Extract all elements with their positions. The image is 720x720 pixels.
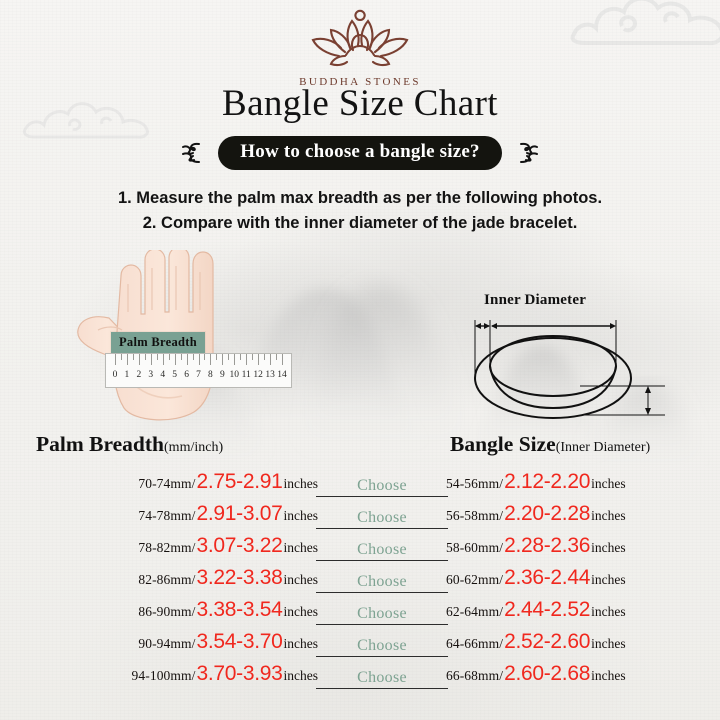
size-inch-value: 3.70-3.93 (196, 662, 282, 686)
table-row: 94-100mm/3.70-3.93inches (18, 662, 318, 694)
ruler-number: 12 (253, 370, 263, 380)
size-mm-value: 66-68mm/ (446, 668, 503, 684)
ornament-flourish-right-icon (511, 138, 541, 168)
ruler-number: 0 (113, 370, 118, 380)
size-inch-value: 2.28-2.36 (504, 534, 590, 558)
ruler-numbers: 01234567891011121314 (106, 367, 291, 387)
choose-label[interactable]: Choose (357, 605, 407, 623)
bangle-ring-diagram-icon (460, 314, 670, 422)
ruler-tick (216, 354, 217, 360)
ruler-tick (252, 354, 253, 360)
ruler-number: 13 (265, 370, 275, 380)
table-row: 74-78mm/2.91-3.07inches (18, 502, 318, 534)
size-mm-value: 56-58mm/ (446, 508, 503, 524)
how-to-choose-banner: How to choose a bangle size? (218, 136, 501, 170)
size-unit-label: inches (284, 604, 319, 620)
ruler-tick (228, 354, 229, 360)
bangle-size-heading-sub: (Inner Diameter) (556, 440, 650, 455)
choose-label[interactable]: Choose (357, 509, 407, 527)
size-mm-value: 70-74mm/ (138, 476, 195, 492)
choose-row[interactable]: Choose (316, 598, 448, 630)
ruler-tick (258, 354, 259, 365)
size-unit-label: inches (284, 668, 319, 684)
palm-breadth-heading-main: Palm Breadth (36, 432, 164, 456)
ruler-tick (139, 354, 140, 365)
size-unit-label: inches (591, 508, 626, 524)
size-unit-label: inches (284, 476, 319, 492)
table-row: 58-60mm/2.28-2.36inches (446, 534, 714, 566)
choose-row[interactable]: Choose (316, 630, 448, 662)
choose-connector-line (316, 496, 448, 497)
size-inch-value: 2.12-2.20 (504, 470, 590, 494)
table-row: 60-62mm/2.36-2.44inches (446, 566, 714, 598)
size-inch-value: 2.44-2.52 (504, 598, 590, 622)
size-inch-value: 3.54-3.70 (196, 630, 282, 654)
size-mm-value: 64-66mm/ (446, 636, 503, 652)
table-row: 86-90mm/3.38-3.54inches (18, 598, 318, 630)
bangle-diagram: Inner Diameter (460, 292, 670, 420)
ruler-tick (204, 354, 205, 360)
choose-connector-line (316, 656, 448, 657)
instruction-step-2: 2. Compare with the inner diameter of th… (0, 211, 720, 236)
ruler-tick (234, 354, 235, 365)
size-unit-label: inches (591, 604, 626, 620)
table-row: 82-86mm/3.22-3.38inches (18, 566, 318, 598)
choose-row[interactable]: Choose (316, 662, 448, 694)
ruler-tick (145, 354, 146, 360)
table-row: 54-56mm/2.12-2.20inches (446, 470, 714, 502)
choose-label[interactable]: Choose (357, 541, 407, 559)
ruler-tick (157, 354, 158, 360)
ruler-tick (240, 354, 241, 360)
size-unit-label: inches (591, 540, 626, 556)
size-unit-label: inches (284, 540, 319, 556)
palm-breadth-table: 70-74mm/2.75-2.91inches74-78mm/2.91-3.07… (18, 470, 318, 694)
size-unit-label: inches (284, 508, 319, 524)
ruler-icon: 01234567891011121314 (105, 353, 292, 388)
ruler-tick (199, 354, 200, 365)
size-mm-value: 90-94mm/ (138, 636, 195, 652)
size-unit-label: inches (591, 476, 626, 492)
size-inch-value: 2.52-2.60 (504, 630, 590, 654)
size-unit-label: inches (591, 668, 626, 684)
ruler-tick (222, 354, 223, 365)
size-mm-value: 74-78mm/ (138, 508, 195, 524)
inner-diameter-label: Inner Diameter (484, 292, 586, 309)
ruler-tick (210, 354, 211, 365)
size-unit-label: inches (591, 636, 626, 652)
lotus-meditation-icon (301, 8, 419, 70)
choose-connector-line (316, 592, 448, 593)
ruler-tick (115, 354, 116, 365)
size-mm-value: 62-64mm/ (446, 604, 503, 620)
ruler-tick (270, 354, 271, 365)
size-mm-value: 94-100mm/ (132, 668, 196, 684)
ruler-ticks (106, 354, 291, 367)
ruler-number: 3 (148, 370, 153, 380)
size-inch-value: 2.20-2.28 (504, 502, 590, 526)
size-inch-value: 3.22-3.38 (196, 566, 282, 590)
ruler-tick (151, 354, 152, 365)
bangle-size-heading-main: Bangle Size (450, 432, 556, 456)
ruler-number: 6 (184, 370, 189, 380)
ruler-number: 2 (136, 370, 141, 380)
table-row: 62-64mm/2.44-2.52inches (446, 598, 714, 630)
ruler-tick (133, 354, 134, 360)
ruler-tick (187, 354, 188, 365)
ruler-number: 7 (196, 370, 201, 380)
bangle-size-chart-page: BUDDHA STONES Bangle Size Chart How to c… (0, 0, 720, 720)
choose-row[interactable]: Choose (316, 566, 448, 598)
choose-row[interactable]: Choose (316, 470, 448, 502)
choose-connector-line (316, 624, 448, 625)
ruler-tick (163, 354, 164, 365)
instruction-step-1: 1. Measure the palm max breadth as per t… (0, 186, 720, 211)
ruler-tick (264, 354, 265, 360)
instruction-steps: 1. Measure the palm max breadth as per t… (0, 186, 720, 236)
ruler-tick (169, 354, 170, 360)
ruler-number: 11 (242, 370, 251, 380)
table-row: 90-94mm/3.54-3.70inches (18, 630, 318, 662)
ruler-number: 10 (230, 370, 240, 380)
ruler-number: 1 (125, 370, 130, 380)
size-inch-value: 2.91-3.07 (196, 502, 282, 526)
choose-label[interactable]: Choose (357, 637, 407, 655)
size-mm-value: 58-60mm/ (446, 540, 503, 556)
size-inch-value: 2.60-2.68 (504, 662, 590, 686)
bangle-size-heading: Bangle Size(Inner Diameter) (450, 432, 650, 457)
choose-connector-line (316, 688, 448, 689)
hand-measure-illustration: Palm Breadth 01234567891011121314 (62, 250, 312, 422)
choose-connector-line (316, 528, 448, 529)
ruler-number: 4 (160, 370, 165, 380)
size-mm-value: 86-90mm/ (138, 604, 195, 620)
palm-breadth-label: Palm Breadth (111, 332, 205, 354)
choose-connector-column: ChooseChooseChooseChooseChooseChooseChoo… (316, 470, 448, 694)
size-mm-value: 54-56mm/ (446, 476, 503, 492)
choose-row[interactable]: Choose (316, 502, 448, 534)
choose-label[interactable]: Choose (357, 669, 407, 687)
ruler-tick (276, 354, 277, 360)
palm-breadth-heading-sub: (mm/inch) (164, 440, 223, 455)
size-inch-value: 3.07-3.22 (196, 534, 282, 558)
size-inch-value: 2.75-2.91 (196, 470, 282, 494)
ruler-tick (181, 354, 182, 360)
size-inch-value: 2.36-2.44 (504, 566, 590, 590)
choose-label[interactable]: Choose (357, 573, 407, 591)
choose-label[interactable]: Choose (357, 477, 407, 495)
size-mm-value: 78-82mm/ (138, 540, 195, 556)
table-row: 70-74mm/2.75-2.91inches (18, 470, 318, 502)
ruler-tick (127, 354, 128, 365)
page-title: Bangle Size Chart (0, 82, 720, 125)
ruler-number: 8 (208, 370, 213, 380)
size-mm-value: 60-62mm/ (446, 572, 503, 588)
banner-row: How to choose a bangle size? (0, 136, 720, 170)
palm-breadth-heading: Palm Breadth(mm/inch) (36, 432, 223, 457)
size-unit-label: inches (284, 636, 319, 652)
ruler-tick (282, 354, 283, 365)
ornament-flourish-left-icon (179, 138, 209, 168)
ruler-tick (175, 354, 176, 365)
size-unit-label: inches (591, 572, 626, 588)
size-unit-label: inches (284, 572, 319, 588)
ruler-number: 9 (220, 370, 225, 380)
bangle-size-table: 54-56mm/2.12-2.20inches56-58mm/2.20-2.28… (446, 470, 714, 694)
brand-logo: BUDDHA STONES (0, 8, 720, 88)
choose-connector-line (316, 560, 448, 561)
size-mm-value: 82-86mm/ (138, 572, 195, 588)
table-row: 64-66mm/2.52-2.60inches (446, 630, 714, 662)
ruler-tick (193, 354, 194, 360)
ruler-tick (246, 354, 247, 365)
table-row: 78-82mm/3.07-3.22inches (18, 534, 318, 566)
table-row: 66-68mm/2.60-2.68inches (446, 662, 714, 694)
ruler-number: 5 (172, 370, 177, 380)
ruler-number: 14 (277, 370, 287, 380)
table-row: 56-58mm/2.20-2.28inches (446, 502, 714, 534)
size-inch-value: 3.38-3.54 (196, 598, 282, 622)
ruler-tick (121, 354, 122, 360)
choose-row[interactable]: Choose (316, 534, 448, 566)
